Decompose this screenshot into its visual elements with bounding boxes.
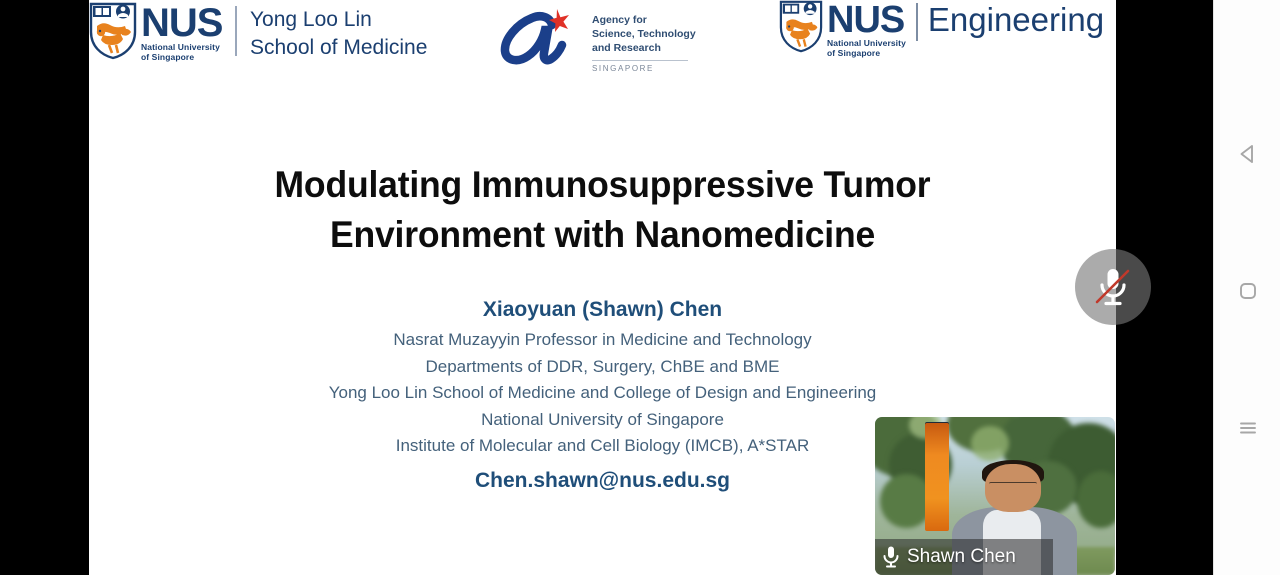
- mute-toggle-button[interactable]: [1075, 249, 1151, 325]
- title-line-2: Environment with Nanomedicine: [110, 210, 1096, 260]
- affiliation-line-1: Nasrat Muzayyin Professor in Medicine an…: [89, 327, 1116, 354]
- triangle-back-icon: [1235, 141, 1261, 167]
- nus-engineering-wordmark: NUS National University of Singapore: [827, 0, 906, 59]
- screen-root: NUS National University of Singapore Yon…: [0, 0, 1280, 575]
- school-of-medicine-text: Yong Loo Lin School of Medicine: [250, 2, 427, 61]
- partner-line1: Yong Loo Lin: [250, 6, 427, 34]
- microphone-icon: [882, 545, 900, 569]
- astar-a-icon: [494, 5, 586, 67]
- astar-country: SINGAPORE: [592, 64, 696, 73]
- logo-bar: NUS National University of Singapore Yon…: [89, 0, 1116, 82]
- author-name: Xiaoyuan (Shawn) Chen: [89, 296, 1116, 323]
- astar-line2: Science, Technology: [592, 28, 696, 42]
- recents-button[interactable]: [1214, 404, 1280, 452]
- participant-name: Shawn Chen: [907, 546, 1016, 568]
- rounded-square-home-icon: [1235, 278, 1261, 304]
- android-navigation-bar: [1213, 0, 1280, 575]
- nus-crest-icon: [89, 2, 137, 60]
- title-line-1: Modulating Immunosuppressive Tumor: [110, 160, 1096, 210]
- affiliation-line-3: Yong Loo Lin School of Medicine and Coll…: [89, 380, 1116, 407]
- nus-sub-line2: of Singapore: [141, 53, 222, 63]
- nus-acronym: NUS: [141, 4, 222, 42]
- slide-title: Modulating Immunosuppressive Tumor Envir…: [89, 160, 1116, 260]
- nus-eng-sub-line2: of Singapore: [827, 49, 906, 59]
- person-glasses: [989, 482, 1037, 490]
- hamburger-recents-icon: [1235, 415, 1261, 441]
- left-letterbox: [0, 0, 89, 575]
- astar-wordmark: Agency for Science, Technology and Resea…: [592, 5, 696, 73]
- nus-acronym-engineering: NUS: [827, 2, 906, 38]
- microphone-muted-icon: [1093, 265, 1133, 309]
- logo-nus-engineering: NUS National University of Singapore Eng…: [779, 0, 1104, 59]
- logo-divider-engineering: [916, 3, 918, 41]
- nus-crest-engineering-icon: [779, 0, 823, 53]
- affiliation-line-2: Departments of DDR, Surgery, ChBE and BM…: [89, 354, 1116, 381]
- participant-name-bar: Shawn Chen: [875, 539, 1053, 575]
- engineering-text: Engineering: [928, 0, 1104, 36]
- orange-banner: [925, 423, 949, 530]
- astar-line3: and Research: [592, 42, 696, 56]
- logo-divider: [235, 6, 237, 56]
- nus-wordmark: NUS National University of Singapore: [141, 2, 222, 63]
- astar-line1: Agency for: [592, 14, 696, 28]
- partner-line2: School of Medicine: [250, 34, 427, 62]
- back-button[interactable]: [1214, 130, 1280, 178]
- home-button[interactable]: [1214, 267, 1280, 315]
- astar-divider: [592, 60, 688, 61]
- logo-nus-medicine: NUS National University of Singapore Yon…: [89, 2, 427, 63]
- logo-astar: Agency for Science, Technology and Resea…: [494, 5, 696, 73]
- self-view-video-tile[interactable]: Shawn Chen: [875, 417, 1115, 575]
